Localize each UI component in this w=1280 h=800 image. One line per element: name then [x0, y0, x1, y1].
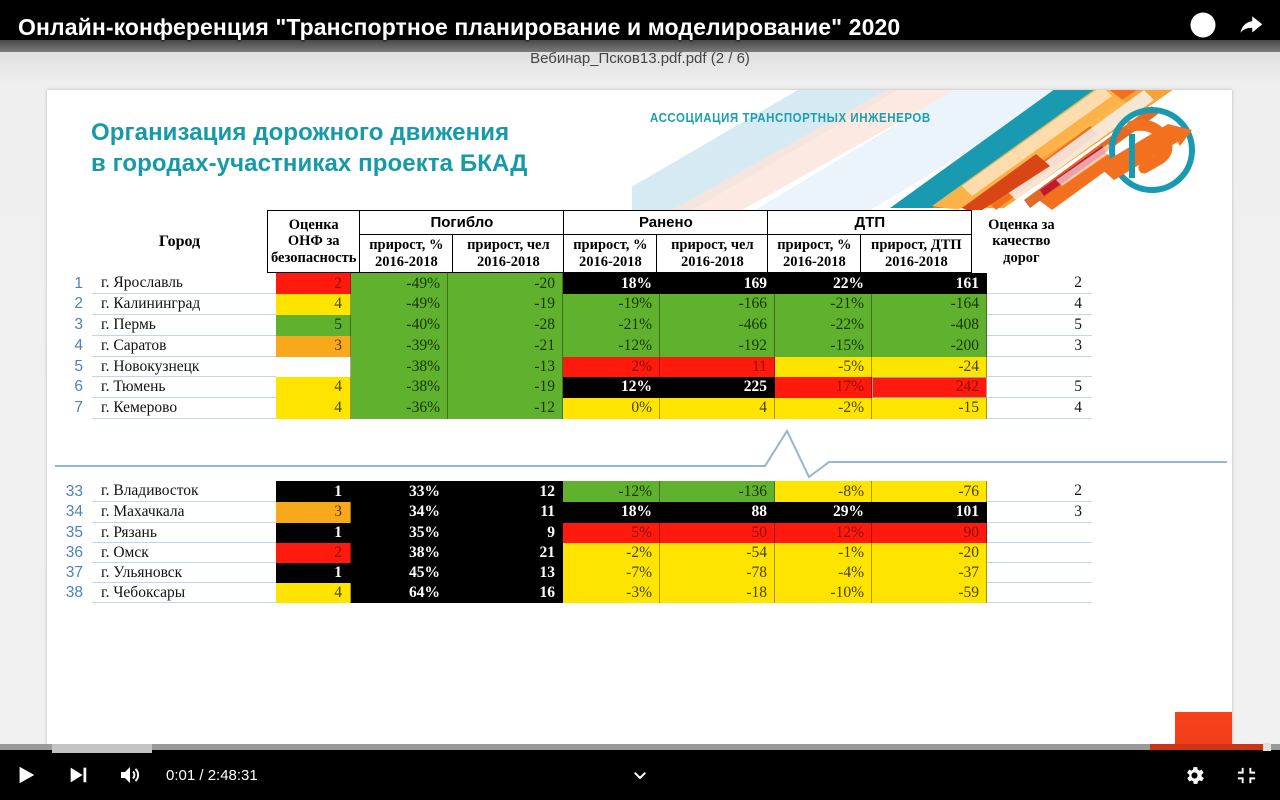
cell-road-quality: 2 — [987, 273, 1093, 294]
cell-killed-people: -28 — [448, 315, 563, 336]
cell-injured-people: -192 — [660, 336, 775, 357]
row-city-name: г. Тюмень — [92, 377, 276, 398]
row-number: 7 — [47, 398, 92, 419]
time-display: 0:01 / 2:48:31 — [166, 767, 258, 784]
cell-killed-pct: 35% — [351, 523, 448, 543]
cell-killed-people: -21 — [448, 336, 563, 357]
row-city-name: г. Новокузнецк — [92, 357, 276, 377]
exit-fullscreen-button[interactable] — [1220, 750, 1272, 800]
cell-onf-score: 5 — [276, 315, 351, 336]
cell-dtp-pct: 29% — [775, 502, 872, 523]
row-number: 33 — [47, 481, 92, 502]
header-injured-pct: прирост, % 2016-2018 — [564, 235, 657, 273]
cell-road-quality — [987, 523, 1093, 543]
cell-killed-people: -20 — [448, 273, 563, 294]
cell-dtp-pct: -1% — [775, 543, 872, 563]
cell-dtp-count: -24 — [872, 357, 987, 377]
document-viewer: Вебинар_Псков13.pdf.pdf (2 / 6) Организа… — [0, 40, 1280, 750]
video-top-bar: Онлайн-конференция "Транспортное планиро… — [0, 0, 1280, 52]
cell-killed-people: 12 — [448, 481, 563, 502]
cell-onf-score: 4 — [276, 377, 351, 398]
cell-dtp-pct: -4% — [775, 563, 872, 583]
table-row: 37г. Ульяновск145%13-7%-78-4%-37 — [47, 563, 1092, 583]
row-city-name: г. Саратов — [92, 336, 276, 357]
cell-dtp-count: 161 — [872, 273, 987, 294]
volume-icon — [118, 763, 142, 787]
cell-injured-people: -166 — [660, 294, 775, 315]
cell-killed-people: 16 — [448, 583, 563, 603]
row-number: 34 — [47, 502, 92, 523]
cell-dtp-pct: -22% — [775, 315, 872, 336]
cell-injured-pct: -19% — [563, 294, 660, 315]
cell-dtp-pct: -10% — [775, 583, 872, 603]
cell-onf-score: 4 — [276, 583, 351, 603]
row-city-name: г. Омск — [92, 543, 276, 563]
cell-injured-people: -78 — [660, 563, 775, 583]
cell-road-quality: 4 — [987, 398, 1093, 419]
cell-injured-people: 169 — [660, 273, 775, 294]
cell-dtp-count: 242 — [872, 377, 987, 398]
cell-killed-people: 13 — [448, 563, 563, 583]
cell-road-quality — [987, 583, 1093, 603]
cell-dtp-count: -200 — [872, 336, 987, 357]
cell-injured-people: -136 — [660, 481, 775, 502]
cell-dtp-pct: -21% — [775, 294, 872, 315]
cell-killed-pct: -49% — [351, 273, 448, 294]
player-left-controls: 0:01 / 2:48:31 — [0, 750, 258, 800]
cell-road-quality: 3 — [987, 502, 1093, 523]
spacer-num — [47, 211, 92, 235]
cell-onf-score: 1 — [276, 523, 351, 543]
row-city-name: г. Кемерово — [92, 398, 276, 419]
cell-dtp-pct: -2% — [775, 398, 872, 419]
row-city-name: г. Калининград — [92, 294, 276, 315]
cell-injured-pct: -12% — [563, 336, 660, 357]
association-logo: АССОЦИАЦИЯ ТРАНСПОРТНЫХ ИНЖЕНЕРОВ — [632, 90, 1232, 210]
cell-dtp-count: -76 — [872, 481, 987, 502]
row-number: 37 — [47, 563, 92, 583]
row-number: 4 — [47, 336, 92, 357]
cell-dtp-count: 90 — [872, 523, 987, 543]
cell-injured-pct: 18% — [563, 273, 660, 294]
expand-panel-button[interactable] — [614, 750, 666, 800]
cell-road-quality — [987, 563, 1093, 583]
cell-injured-people: -466 — [660, 315, 775, 336]
row-number: 6 — [47, 377, 92, 398]
cell-killed-people: 9 — [448, 523, 563, 543]
header-killed-pct: прирост, % 2016-2018 — [360, 235, 453, 273]
table-row: 5г. Новокузнецк-38%-132%11-5%-24 — [47, 357, 1092, 377]
header-group-injured: Ранено — [564, 211, 768, 235]
slide-title: Организация дорожного движения в городах… — [91, 118, 528, 179]
cell-killed-pct: -38% — [351, 357, 448, 377]
header-injured-people: прирост, чел 2016-2018 — [657, 235, 768, 273]
cell-dtp-count: -59 — [872, 583, 987, 603]
row-number: 1 — [47, 273, 92, 294]
cell-killed-people: 21 — [448, 543, 563, 563]
cell-onf-score: 3 — [276, 502, 351, 523]
cell-injured-people: 225 — [660, 377, 775, 398]
cell-killed-pct: -39% — [351, 336, 448, 357]
cell-killed-pct: -36% — [351, 398, 448, 419]
cell-dtp-pct: 22% — [775, 273, 872, 294]
cell-killed-pct: 64% — [351, 583, 448, 603]
header-dtp-count: прирост, ДТП 2016-2018 — [861, 235, 972, 273]
row-number: 36 — [47, 543, 92, 563]
table-body-top: 1г. Ярославль2-49%-2018%16922%16122г. Ка… — [47, 273, 1092, 419]
cell-killed-people: -19 — [448, 377, 563, 398]
player-center-controls — [614, 750, 666, 800]
cell-killed-people: -12 — [448, 398, 563, 419]
cell-injured-people: 50 — [660, 523, 775, 543]
table-row: 6г. Тюмень4-38%-1912%22517%2425 — [47, 377, 1092, 398]
cell-road-quality: 5 — [987, 377, 1093, 398]
cell-onf-score: 1 — [276, 481, 351, 502]
row-city-name: г. Ярославль — [92, 273, 276, 294]
cell-injured-pct: -3% — [563, 583, 660, 603]
next-video-button[interactable] — [52, 750, 104, 800]
play-icon — [15, 764, 37, 786]
cell-injured-people: 88 — [660, 502, 775, 523]
row-city-name: г. Владивосток — [92, 481, 276, 502]
cell-onf-score: 4 — [276, 398, 351, 419]
cell-killed-pct: 34% — [351, 502, 448, 523]
table-break-separator — [47, 419, 1232, 481]
cell-road-quality: 5 — [987, 315, 1093, 336]
share-arrow-icon[interactable] — [1236, 10, 1266, 40]
row-city-name: г. Чебоксары — [92, 583, 276, 603]
cell-road-quality: 4 — [987, 294, 1093, 315]
settings-button[interactable] — [1168, 750, 1220, 800]
cell-road-quality — [987, 357, 1093, 377]
table-row: 38г. Чебоксары464%16-3%-18-10%-59 — [47, 583, 1092, 603]
cell-dtp-count: -164 — [872, 294, 987, 315]
table-row: 34г. Махачкала334%1118%8829%1013 — [47, 502, 1092, 523]
top-actions — [1188, 10, 1266, 40]
cell-onf-score: 2 — [276, 273, 351, 294]
cell-dtp-count: -408 — [872, 315, 987, 336]
header-dtp-pct: прирост, % 2016-2018 — [768, 235, 861, 273]
cell-road-quality: 3 — [987, 336, 1093, 357]
cell-killed-pct: 33% — [351, 481, 448, 502]
slide-header: Организация дорожного движения в городах… — [47, 90, 1232, 210]
cell-dtp-pct: 17% — [775, 377, 872, 398]
header-city: Город — [92, 211, 268, 273]
cell-injured-pct: 5% — [563, 523, 660, 543]
chevron-down-icon — [631, 766, 649, 784]
cell-dtp-pct: -8% — [775, 481, 872, 502]
video-controls-bar: 0:01 / 2:48:31 — [0, 750, 1280, 800]
exit-fullscreen-icon — [1235, 764, 1258, 787]
row-number: 38 — [47, 583, 92, 603]
cell-onf-score — [276, 357, 351, 377]
slide-title-line-1: Организация дорожного движения — [91, 118, 528, 149]
cell-killed-pct: 38% — [351, 543, 448, 563]
cell-killed-people: -13 — [448, 357, 563, 377]
cell-injured-pct: 18% — [563, 502, 660, 523]
slide-title-line-2: в городах-участниках проекта БКАД — [91, 149, 528, 180]
header-group-accidents: ДТП — [768, 211, 972, 235]
row-city-name: г. Махачкала — [92, 502, 276, 523]
table-body-bottom: 33г. Владивосток133%12-12%-136-8%-76234г… — [47, 481, 1092, 603]
road-safety-table: Город Оценка ОНФ за безопасность Погибло… — [47, 210, 1232, 603]
header-onf-score: Оценка ОНФ за безопасность — [268, 211, 360, 273]
document-caption: Вебинар_Псков13.pdf.pdf (2 / 6) — [0, 50, 1280, 67]
cell-injured-pct: -2% — [563, 543, 660, 563]
table-row: 3г. Пермь5-40%-28-21%-466-22%-4085 — [47, 315, 1092, 336]
cell-injured-people: -54 — [660, 543, 775, 563]
cell-dtp-count: 101 — [872, 502, 987, 523]
cell-dtp-pct: -5% — [775, 357, 872, 377]
cell-injured-pct: 12% — [563, 377, 660, 398]
row-number: 2 — [47, 294, 92, 315]
cell-injured-people: 11 — [660, 357, 775, 377]
clock-icon[interactable] — [1188, 10, 1218, 40]
zigzag-break-line — [47, 419, 1232, 481]
cell-onf-score: 2 — [276, 543, 351, 563]
spacer-num-2 — [47, 235, 92, 273]
table-header: Город Оценка ОНФ за безопасность Погибло… — [47, 210, 1070, 273]
row-city-name: г. Ульяновск — [92, 563, 276, 583]
header-killed-people: прирост, чел 2016-2018 — [453, 235, 564, 273]
cell-killed-pct: 45% — [351, 563, 448, 583]
cell-killed-people: -19 — [448, 294, 563, 315]
row-number: 3 — [47, 315, 92, 336]
table-row: 35г. Рязань135%95%5012%90 — [47, 523, 1092, 543]
row-number: 5 — [47, 357, 92, 377]
cell-injured-pct: -12% — [563, 481, 660, 502]
cell-road-quality: 2 — [987, 481, 1093, 502]
gear-icon — [1183, 764, 1206, 787]
row-number: 35 — [47, 523, 92, 543]
brand-text: АССОЦИАЦИЯ ТРАНСПОРТНЫХ ИНЖЕНЕРОВ — [650, 111, 931, 125]
cell-onf-score: 1 — [276, 563, 351, 583]
video-player-page: Вебинар_Псков13.pdf.pdf (2 / 6) Организа… — [0, 0, 1280, 800]
volume-button[interactable] — [104, 750, 156, 800]
slide-page: Организация дорожного движения в городах… — [47, 90, 1232, 750]
table-row: 7г. Кемерово4-36%-120%4-2%-154 — [47, 398, 1092, 419]
cell-dtp-count: -37 — [872, 563, 987, 583]
cell-onf-score: 3 — [276, 336, 351, 357]
brand-ribbons-graphic — [632, 90, 1232, 210]
table-row: 2г. Калининград4-49%-19-19%-166-21%-1644 — [47, 294, 1092, 315]
cell-killed-pct: -49% — [351, 294, 448, 315]
cell-dtp-pct: -15% — [775, 336, 872, 357]
cell-injured-people: 4 — [660, 398, 775, 419]
cell-injured-pct: 2% — [563, 357, 660, 377]
table-row: 1г. Ярославль2-49%-2018%16922%1612 — [47, 273, 1092, 294]
header-group-killed: Погибло — [360, 211, 564, 235]
row-city-name: г. Рязань — [92, 523, 276, 543]
table-row: 4г. Саратов3-39%-21-12%-192-15%-2003 — [47, 336, 1092, 357]
cell-killed-pct: -40% — [351, 315, 448, 336]
cell-injured-pct: -7% — [563, 563, 660, 583]
row-city-name: г. Пермь — [92, 315, 276, 336]
table-row: 33г. Владивосток133%12-12%-136-8%-762 — [47, 481, 1092, 502]
player-right-controls — [1168, 750, 1272, 800]
video-title: Онлайн-конференция "Транспортное планиро… — [18, 14, 900, 41]
cell-dtp-count: -20 — [872, 543, 987, 563]
cell-road-quality — [987, 543, 1093, 563]
cell-killed-people: 11 — [448, 502, 563, 523]
header-road-quality: Оценка за качество дорог — [972, 211, 1071, 273]
cell-killed-pct: -38% — [351, 377, 448, 398]
play-button[interactable] — [0, 750, 52, 800]
cell-injured-pct: -21% — [563, 315, 660, 336]
cell-injured-pct: 0% — [563, 398, 660, 419]
cell-injured-people: -18 — [660, 583, 775, 603]
table-row: 36г. Омск238%21-2%-54-1%-20 — [47, 543, 1092, 563]
next-track-icon — [67, 764, 89, 786]
cell-onf-score: 4 — [276, 294, 351, 315]
cell-dtp-pct: 12% — [775, 523, 872, 543]
cell-dtp-count: -15 — [872, 398, 987, 419]
